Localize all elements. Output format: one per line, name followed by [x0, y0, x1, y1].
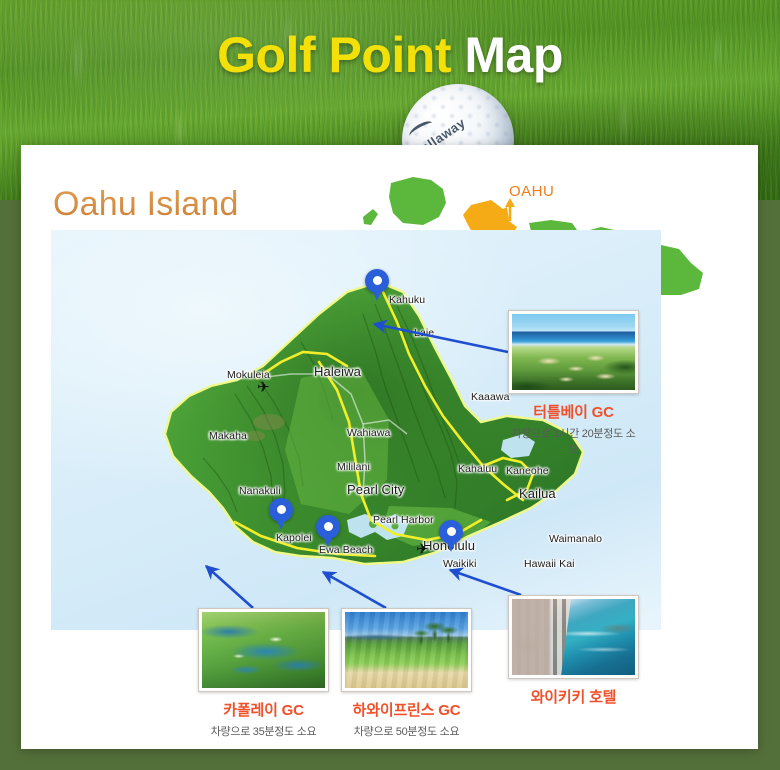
- place-label: Laie: [414, 327, 434, 339]
- place-label: Waikiki: [443, 558, 477, 570]
- place-label: Hawaii Kai: [524, 558, 575, 570]
- photo-subtitle: 차량으로 35분정도 소요: [198, 723, 329, 739]
- photo-caption: 하와이프린스 GC: [341, 699, 472, 720]
- photo-card-hawaii-prince[interactable]: 하와이프린스 GC 차량으로 50분정도 소요: [341, 608, 472, 739]
- place-label: Haleiwa: [314, 364, 361, 379]
- map-pin-turtle-bay[interactable]: [365, 269, 389, 301]
- island-kauai: [389, 177, 446, 225]
- place-label: Kailua: [519, 486, 556, 501]
- map-pin-waikiki[interactable]: [439, 520, 463, 552]
- photo-image-turtle-bay: [512, 314, 635, 390]
- place-label: Kaneohe: [506, 465, 549, 477]
- photo-frame: [198, 608, 329, 692]
- photo-card-waikiki-hotel[interactable]: 와이키키 호텔: [508, 595, 639, 710]
- pin-tail: [370, 285, 384, 301]
- photo-image-waikiki-hotel: [512, 599, 635, 675]
- photo-card-kapolei[interactable]: 카폴레이 GC 차량으로 35분정도 소요: [198, 608, 329, 739]
- photo-frame: [341, 608, 472, 692]
- map-pin-hawaii-prince[interactable]: [316, 515, 340, 547]
- place-label: Pearl Harbor: [373, 514, 434, 526]
- pin-tail: [274, 514, 288, 530]
- page-title: Golf Point Map: [0, 26, 780, 84]
- airplane-icon: ✈: [416, 542, 429, 557]
- airplane-icon: ✈: [257, 380, 270, 395]
- place-label: Kaaawa: [471, 391, 510, 403]
- pin-hole: [277, 505, 286, 514]
- oahu-locator-label: OAHU: [509, 183, 554, 200]
- pin-tail: [321, 531, 335, 547]
- map-heading-title: Oahu Island: [53, 185, 239, 224]
- photo-frame: [508, 310, 639, 394]
- map-pin-kapolei[interactable]: [269, 498, 293, 530]
- photo-image-hawaii-prince: [345, 612, 468, 688]
- photo-subtitle: 차량으로 1시간 20분정도 소요: [508, 425, 639, 457]
- photo-caption: 와이키키 호텔: [508, 686, 639, 707]
- page-title-plain: Map: [464, 27, 563, 83]
- island-niihau: [363, 209, 378, 225]
- place-label: Waimanalo: [549, 533, 602, 545]
- photo-caption: 터틀베이 GC: [508, 401, 639, 422]
- photo-subtitle: 차량으로 50분정도 소요: [341, 723, 472, 739]
- place-label: Kahuku: [389, 294, 425, 306]
- photo-card-turtle-bay[interactable]: 터틀베이 GC 차량으로 1시간 20분정도 소요: [508, 310, 639, 457]
- pin-hole: [373, 276, 382, 285]
- photo-frame: [508, 595, 639, 679]
- content-card: Oahu Island 오아후 – 라운딩 하실 골프장 위치 OAHU: [21, 145, 758, 749]
- pin-tail: [444, 536, 458, 552]
- place-label: Nanakuli: [239, 485, 281, 497]
- photo-image-kapolei: [202, 612, 325, 688]
- place-label: Makaha: [209, 430, 247, 442]
- pin-hole: [447, 527, 456, 536]
- place-label: Wahiawa: [347, 427, 391, 439]
- place-label: Mililani: [337, 461, 370, 473]
- page-title-accent: Golf Point: [217, 27, 451, 83]
- pin-hole: [324, 522, 333, 531]
- place-label: Kapolei: [276, 532, 312, 544]
- place-label: Pearl City: [347, 482, 404, 497]
- photo-caption: 카폴레이 GC: [198, 699, 329, 720]
- surf-detail: [556, 622, 635, 675]
- place-label: Kahaluu: [458, 463, 497, 475]
